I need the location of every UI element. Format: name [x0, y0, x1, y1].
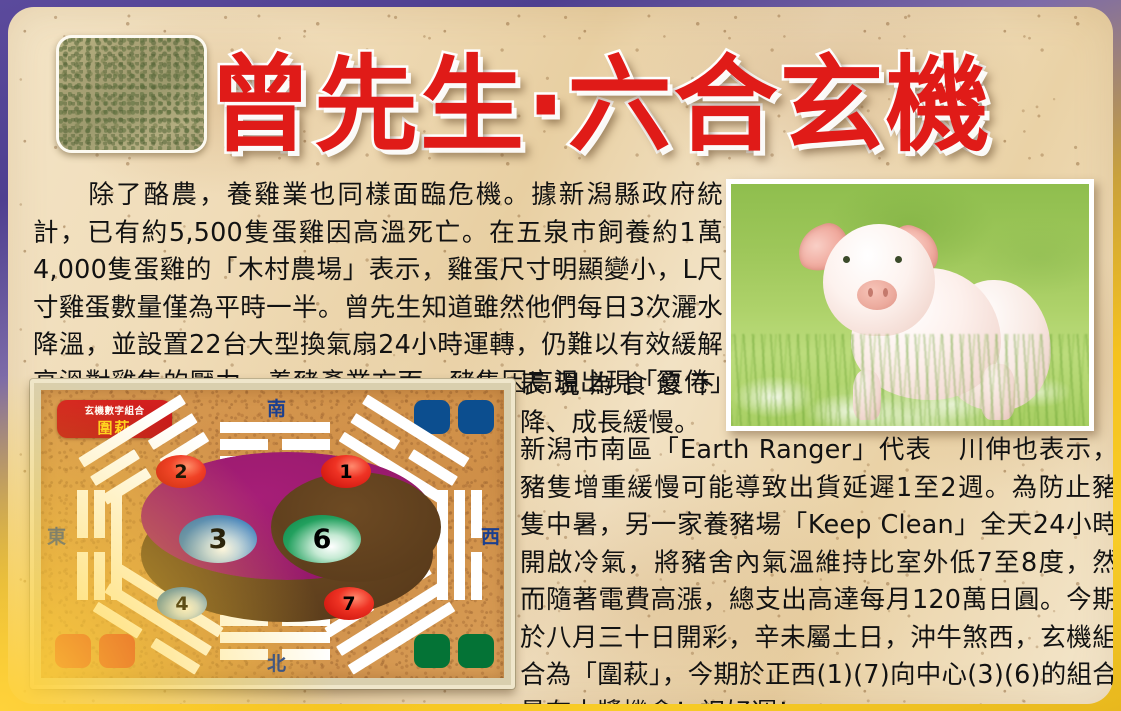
corner-square-green-2 — [458, 634, 494, 668]
direction-label-south: 南 — [267, 400, 286, 419]
article-paragraph-bottom: 新潟市南區「Earth Ranger」代表 川伸也表示，豬隻增重緩慢可能導致出貨… — [520, 432, 1113, 704]
article-paragraph-middle: 表 現 為 食 慾 下降、成長緩慢。 — [520, 367, 716, 442]
direction-label-west: 西 — [481, 528, 500, 547]
pig-right-eye — [895, 256, 902, 263]
lottery-ball-7: 7 — [324, 587, 374, 620]
rice-texture-tile-icon — [56, 35, 207, 153]
direction-label-north: 北 — [267, 655, 286, 674]
pig-snout — [857, 280, 897, 310]
grass-foreground — [731, 334, 1089, 426]
poster-page: 曾先生·六合玄機 除了酪農，養雞業也同樣面臨危機。據新潟縣政府統計，已有約5,5… — [0, 0, 1121, 711]
lottery-ball-4: 4 — [157, 587, 207, 620]
lottery-ball-1: 1 — [321, 455, 371, 488]
corner-square-blue-2 — [458, 400, 494, 434]
lottery-ball-2: 2 — [156, 455, 206, 488]
page-title: 曾先生·六合玄機 — [208, 45, 1068, 165]
bagua-cork-board: 玄機數字組合 圍萩 — [30, 379, 515, 689]
lottery-ball-6: 6 — [283, 515, 361, 563]
parchment-background: 曾先生·六合玄機 除了酪農，養雞業也同樣面臨危機。據新潟縣政府統計，已有約5,5… — [8, 7, 1113, 704]
pig-left-eye — [843, 256, 850, 263]
direction-label-east: 東 — [47, 528, 66, 547]
pig-right-nostril — [883, 288, 888, 297]
trigram-west — [437, 490, 482, 600]
lottery-ball-3: 3 — [179, 515, 257, 563]
trigram-east — [77, 490, 122, 600]
cork-surface: 玄機數字組合 圍萩 — [41, 390, 504, 678]
pig-left-nostril — [868, 288, 873, 297]
masthead: 曾先生·六合玄機 — [8, 7, 1113, 172]
piglet-photo — [726, 179, 1094, 431]
